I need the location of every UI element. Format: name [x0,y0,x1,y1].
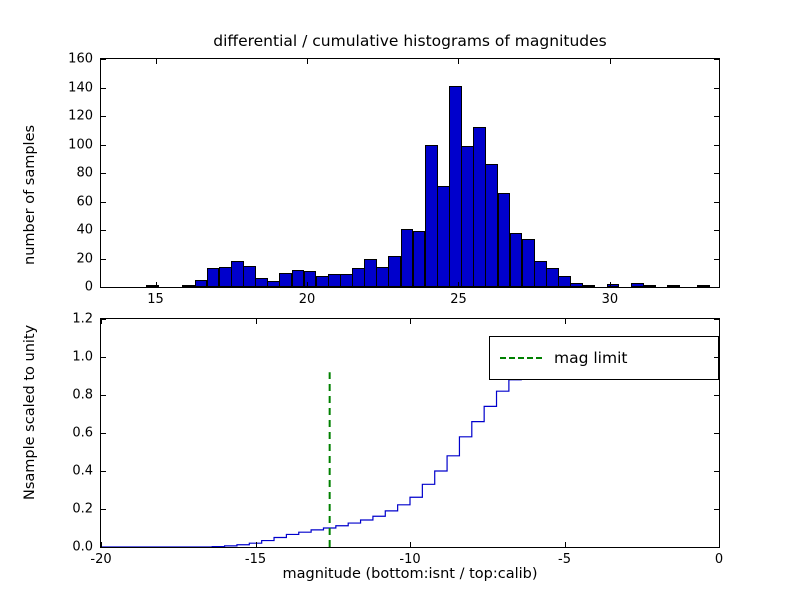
top-yticklabel: 160 [38,52,93,67]
histogram-bar [340,274,353,287]
bottom-axis-ylabel: Nsample scaled to unity [22,325,38,500]
bottom-ytick [714,319,719,320]
bottom-xtick [256,542,257,547]
bottom-yticklabel: 1.0 [38,350,93,365]
top-ytick [714,116,719,117]
top-yticklabel: 140 [38,80,93,95]
bottom-xtick [410,319,411,324]
histogram-bar [570,283,583,287]
top-ytick [101,116,106,117]
bottom-xticklabel: 0 [715,552,723,567]
bottom-yticklabel: 0.4 [38,464,93,479]
histogram-bar [279,273,292,287]
bottom-ytick [714,547,719,548]
histogram-plot-area [101,59,719,287]
top-xtick [458,282,459,287]
histogram-bar [697,285,710,287]
histogram-bar [195,280,208,287]
cumulative-histogram-axes: mag limit [100,318,720,548]
top-ytick [101,173,106,174]
bottom-ytick [101,547,106,548]
histogram-bar [643,285,656,287]
bottom-ytick [101,509,106,510]
top-ytick [101,287,106,288]
bottom-yticklabel: 0.0 [38,540,93,555]
histogram-bar [364,259,377,288]
histogram-bar [558,276,571,287]
histogram-bar [582,285,595,287]
top-ytick [101,259,106,260]
bottom-xtick [719,542,720,547]
histogram-bar [534,261,547,287]
bottom-xticklabel: -15 [245,552,266,567]
histogram-bar [667,285,680,287]
top-ytick [101,88,106,89]
histogram-bar [304,271,317,287]
top-ytick [101,59,106,60]
legend-label-mag-limit: mag limit [554,349,627,367]
top-ytick [714,259,719,260]
bottom-yticklabel: 1.2 [38,312,93,327]
histogram-bar [546,268,559,287]
histogram-bar [182,285,195,287]
bottom-xticklabel: -5 [558,552,571,567]
top-ytick [101,145,106,146]
histogram-bar [146,285,159,287]
histogram-bar [437,186,450,287]
histogram-bar [376,267,389,287]
histogram-bar [388,256,401,287]
bottom-ytick [714,471,719,472]
legend: mag limit [489,336,719,380]
bottom-xtick [410,542,411,547]
bottom-ytick [101,471,106,472]
top-xticklabel: 15 [147,292,164,307]
histogram-bar [255,278,268,287]
bottom-yticklabel: 0.8 [38,388,93,403]
bottom-axis-xlabel: magnitude (bottom:isnt / top:calib) [100,566,720,582]
bottom-ytick [101,433,106,434]
histogram-bar [413,231,426,287]
top-ytick [714,88,719,89]
bottom-ytick [101,357,106,358]
chart-title: differential / cumulative histograms of … [100,32,720,50]
top-yticklabel: 40 [38,223,93,238]
histogram-bar [292,270,305,287]
top-xticklabel: 20 [299,292,316,307]
top-xtick [458,59,459,64]
bottom-ytick [101,395,106,396]
top-xtick [156,59,157,64]
bottom-ytick [714,433,719,434]
cumulative-curve [101,357,719,547]
figure: differential / cumulative histograms of … [0,0,800,600]
histogram-bar [498,193,511,287]
top-xtick [307,59,308,64]
top-ytick [714,173,719,174]
bottom-ytick [101,319,106,320]
bottom-xticklabel: -10 [399,552,420,567]
top-yticklabel: 60 [38,194,93,209]
bottom-xtick [256,319,257,324]
top-xtick [610,282,611,287]
histogram-bar [219,267,232,287]
bottom-xticklabel: -20 [90,552,111,567]
histogram-bar [231,261,244,287]
top-yticklabel: 100 [38,137,93,152]
histogram-bar [243,266,256,287]
histogram-bar [485,164,498,287]
bottom-yticklabel: 0.2 [38,502,93,517]
bottom-xtick [719,319,720,324]
top-ytick [714,145,719,146]
top-axis-ylabel: number of samples [22,125,38,265]
histogram-bar [461,146,474,287]
top-ytick [714,287,719,288]
histogram-bar [473,127,486,287]
top-yticklabel: 80 [38,166,93,181]
bottom-ytick [714,357,719,358]
bottom-xtick [565,542,566,547]
mag-limit-legend-swatch [500,357,542,359]
top-xtick [307,282,308,287]
bottom-ytick [714,395,719,396]
top-xticklabel: 30 [602,292,619,307]
top-xtick [156,282,157,287]
bottom-xtick [565,319,566,324]
top-ytick [101,230,106,231]
histogram-bar [328,274,341,287]
top-yticklabel: 120 [38,109,93,124]
top-yticklabel: 0 [38,280,93,295]
top-ytick [101,202,106,203]
top-ytick [714,59,719,60]
histogram-bar [425,145,438,288]
differential-histogram-axes [100,58,720,288]
bottom-ytick [714,509,719,510]
histogram-bar [631,283,644,287]
top-yticklabel: 20 [38,251,93,266]
top-ytick [714,202,719,203]
histogram-bar [510,233,523,287]
top-xticklabel: 25 [450,292,467,307]
histogram-bar [522,239,535,287]
histogram-bar [352,268,365,287]
histogram-bar [267,281,280,287]
histogram-bar [207,268,220,287]
histogram-bar [607,284,620,287]
histogram-bar [401,229,414,287]
top-ytick [714,230,719,231]
top-xtick [610,59,611,64]
histogram-bar [449,86,462,287]
histogram-bar [316,276,329,287]
bottom-yticklabel: 0.6 [38,426,93,441]
